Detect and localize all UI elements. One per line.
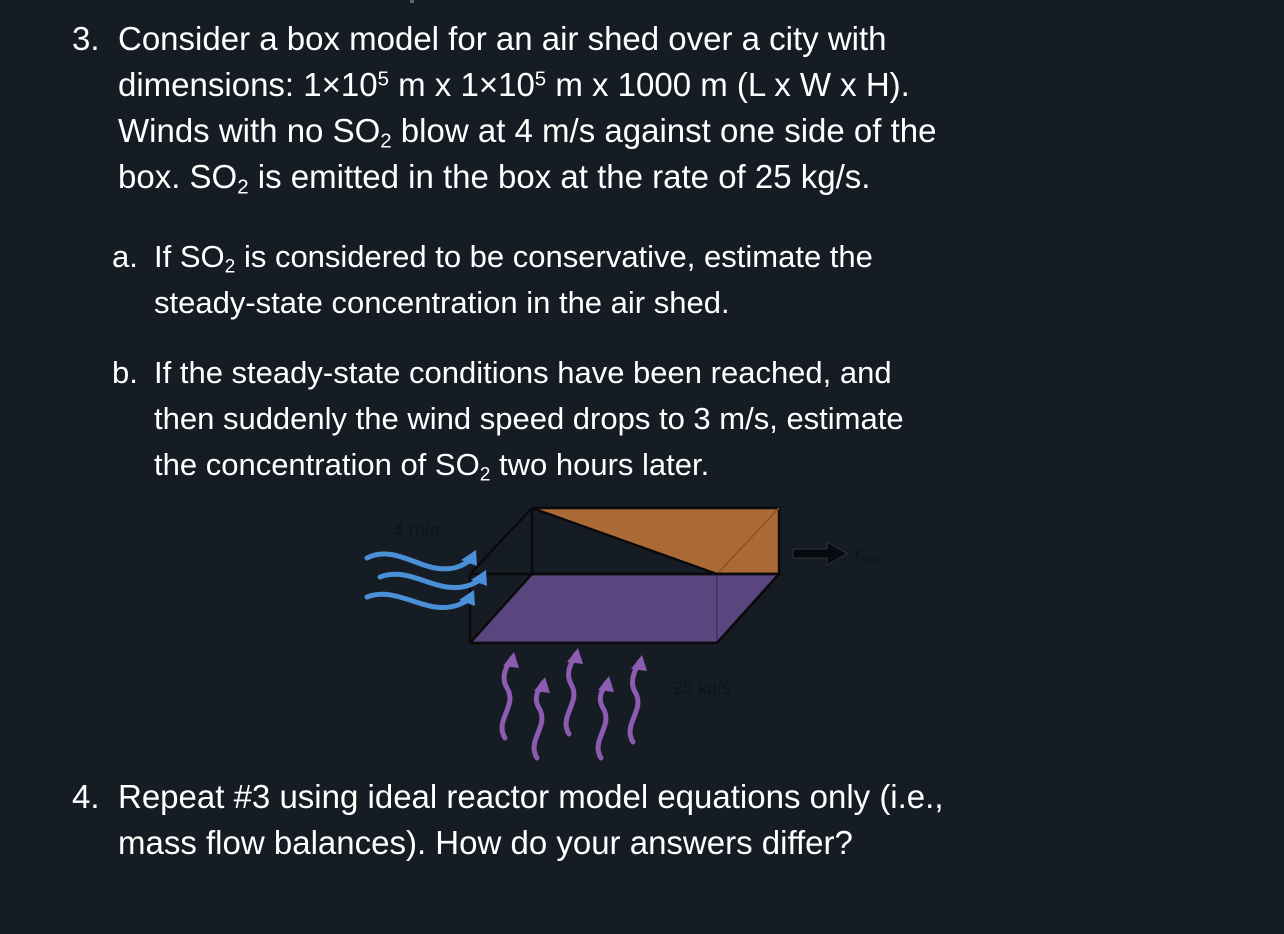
wind-arrow-2	[380, 574, 483, 587]
wind-arrow-3	[367, 594, 471, 607]
emission-arrowhead-4	[598, 676, 614, 692]
wind-speed-label: 4 m/s	[393, 521, 439, 542]
emission-arrowhead-1	[503, 652, 519, 668]
question-4-line-1: Repeat #3 using ideal reactor model equa…	[118, 774, 1162, 820]
page-root: 3. Consider a box model for an air shed …	[0, 0, 1284, 934]
emission-arrow-2	[534, 683, 543, 758]
question-3: 3. Consider a box model for an air shed …	[72, 16, 1162, 200]
wind-arrow-1	[367, 554, 473, 569]
outflow-arrow	[793, 542, 847, 565]
emission-rate-label: 25 kg/s	[673, 678, 731, 698]
question-3a-number: a.	[112, 234, 154, 280]
emission-arrowhead-3	[567, 648, 583, 664]
emission-arrowhead-2	[534, 677, 550, 693]
question-3b-number: b.	[112, 350, 154, 396]
question-4: 4. Repeat #3 using ideal reactor model e…	[72, 774, 1162, 866]
emission-arrows-group	[502, 654, 640, 758]
question-4-text: Repeat #3 using ideal reactor model equa…	[118, 774, 1162, 866]
box-3d	[470, 508, 779, 643]
emission-arrow-1	[502, 658, 512, 738]
emission-arrow-heads	[503, 648, 647, 693]
box-bottom-top-surface	[470, 574, 779, 643]
question-4-line-2: mass flow balances). How do your answers…	[118, 820, 1162, 866]
emission-arrowhead-5	[631, 655, 647, 671]
question-3a-text: If SO2 is considered to be conservative,…	[154, 234, 1158, 326]
outflow-label: Cout	[855, 546, 881, 566]
wind-arrow-heads	[459, 550, 487, 606]
emission-arrow-4	[598, 682, 607, 758]
emission-arrow-5	[630, 661, 640, 742]
question-3-number: 3.	[72, 16, 118, 62]
question-3b: b. If the steady-state conditions have b…	[112, 350, 1158, 488]
question-3b-text: If the steady-state conditions have been…	[154, 350, 1158, 488]
emission-arrow-3	[566, 654, 576, 734]
question-3a: a. If SO2 is considered to be conservati…	[112, 234, 1158, 326]
question-3-text: Consider a box model for an air shed ove…	[118, 16, 1162, 200]
air-shed-box-model-diagram: 4 m/s Cout 25 kg/s	[355, 492, 915, 777]
cropped-text-remnant	[0, 0, 1284, 4]
question-4-number: 4.	[72, 774, 118, 820]
